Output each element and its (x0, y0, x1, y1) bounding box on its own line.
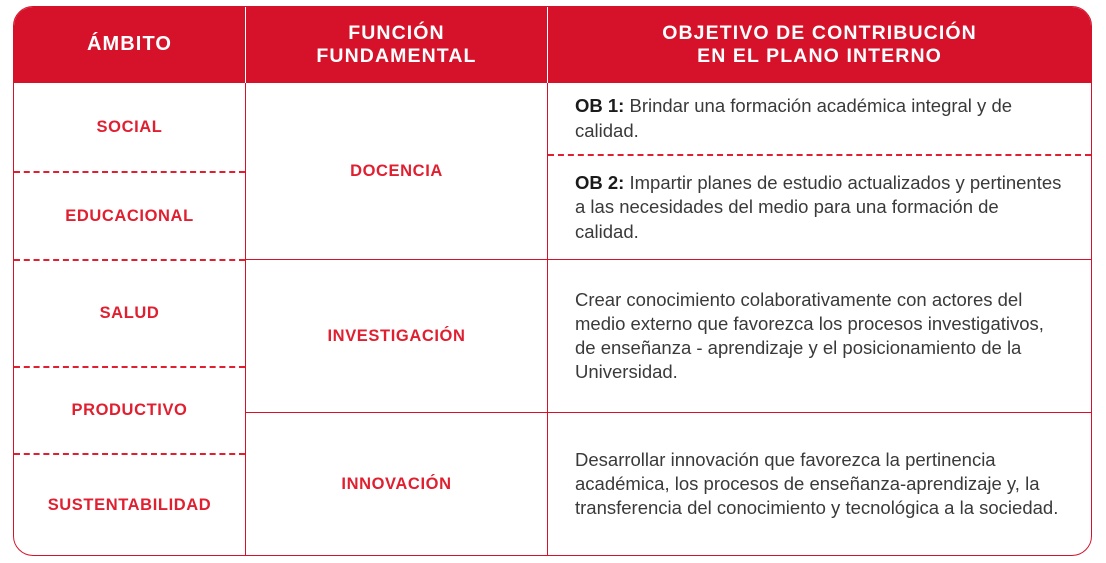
funcion-cell-docencia: DOCENCIA (246, 83, 547, 259)
header-cell-funcion-fundamental: FUNCIÓN FUNDAMENTAL (245, 7, 547, 83)
header-label-funcion-fundamental: FUNCIÓN FUNDAMENTAL (316, 22, 476, 68)
funcion-cell-innovacion: INNOVACIÓN (246, 412, 547, 555)
objetivo-lead-ob2: OB 2: (575, 172, 624, 193)
header-label-objetivo-contribucion: OBJETIVO DE CONTRIBUCIÓN EN EL PLANO INT… (662, 22, 977, 68)
ambito-cell-salud: SALUD (14, 259, 245, 366)
header-cell-objetivo-contribucion: OBJETIVO DE CONTRIBUCIÓN EN EL PLANO INT… (547, 7, 1091, 83)
header-cell-ambito: ÁMBITO (14, 7, 245, 83)
objetivo-body-ob1: Brindar una formación académica integral… (575, 95, 1012, 140)
ambito-label-salud: SALUD (100, 304, 160, 323)
objetivo-group-investigacion: Crear conocimiento colaborativamente con… (548, 259, 1091, 412)
ambito-label-educacional: EDUCACIONAL (65, 207, 194, 226)
ambito-label-sustentabilidad: SUSTENTABILIDAD (48, 496, 212, 515)
objetivo-cell-ob1: OB 1: Brindar una formación académica in… (548, 83, 1091, 154)
funcion-label-docencia: DOCENCIA (350, 162, 443, 181)
funcion-label-innovacion: INNOVACIÓN (341, 475, 451, 494)
table-grid: ÁMBITO FUNCIÓN FUNDAMENTAL OBJETIVO DE C… (14, 7, 1091, 555)
funcion-label-investigacion: INVESTIGACIÓN (328, 327, 466, 346)
objetivo-cell-ob2: OB 2: Impartir planes de estudio actuali… (548, 154, 1091, 259)
ambito-cell-sustentabilidad: SUSTENTABILIDAD (14, 453, 245, 555)
ambito-cell-educacional: EDUCACIONAL (14, 171, 245, 259)
contribution-objectives-table: ÁMBITO FUNCIÓN FUNDAMENTAL OBJETIVO DE C… (13, 6, 1092, 556)
objetivo-group-docencia: OB 1: Brindar una formación académica in… (548, 83, 1091, 259)
header-label-objetivo-line2: EN EL PLANO INTERNO (662, 45, 977, 68)
column-objetivos: OB 1: Brindar una formación académica in… (547, 83, 1091, 555)
objetivo-text-investigacion: Crear conocimiento colaborativamente con… (575, 288, 1065, 384)
header-label-funcion-line2: FUNDAMENTAL (316, 45, 476, 68)
header-label-funcion-line1: FUNCIÓN (316, 22, 476, 45)
header-label-ambito: ÁMBITO (87, 33, 172, 57)
column-funcion-fundamental: DOCENCIA INVESTIGACIÓN INNOVACIÓN (245, 83, 547, 555)
objetivo-text-ob2: OB 2: Impartir planes de estudio actuali… (575, 171, 1065, 243)
ambito-label-productivo: PRODUCTIVO (71, 401, 187, 420)
column-ambito: SOCIAL EDUCACIONAL SALUD PRODUCTIVO SUST… (14, 83, 245, 555)
objetivo-group-innovacion: Desarrollar innovación que favorezca la … (548, 412, 1091, 555)
objetivo-text-ob1: OB 1: Brindar una formación académica in… (575, 94, 1065, 142)
header-label-objetivo-line1: OBJETIVO DE CONTRIBUCIÓN (662, 22, 977, 45)
objetivo-cell-investigacion: Crear conocimiento colaborativamente con… (548, 260, 1091, 412)
ambito-label-social: SOCIAL (97, 118, 163, 137)
objetivo-body-ob2: Impartir planes de estudio actualizados … (575, 172, 1061, 241)
objetivo-lead-ob1: OB 1: (575, 95, 624, 116)
ambito-cell-social: SOCIAL (14, 83, 245, 171)
objetivo-text-innovacion: Desarrollar innovación que favorezca la … (575, 448, 1065, 520)
ambito-cell-productivo: PRODUCTIVO (14, 366, 245, 453)
objetivo-cell-innovacion: Desarrollar innovación que favorezca la … (548, 413, 1091, 555)
funcion-cell-investigacion: INVESTIGACIÓN (246, 259, 547, 412)
